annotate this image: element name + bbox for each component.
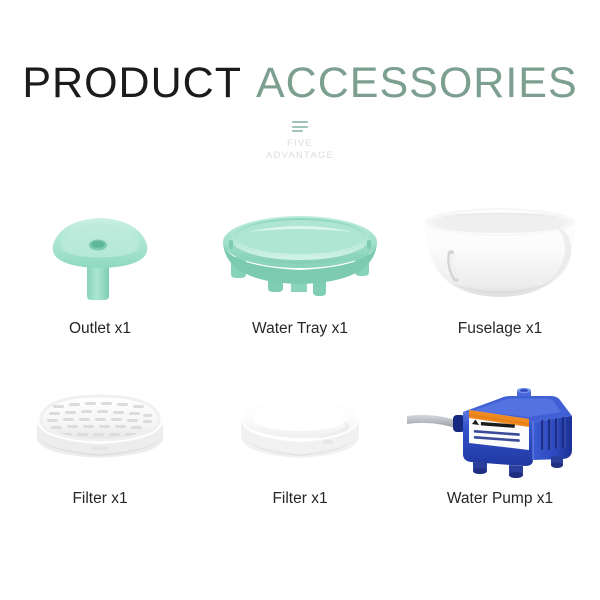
- product-row: Filter x1: [0, 388, 600, 508]
- outlet-part-icon: [5, 196, 195, 314]
- product-cell-water-tray[interactable]: Water Tray x1: [200, 196, 400, 338]
- filter-mesh-icon: [5, 388, 195, 484]
- product-cell-filter-pad[interactable]: Filter x1: [200, 388, 400, 508]
- page-title-primary: PRODUCT: [22, 59, 242, 107]
- page-subtitle: FIVE ADVANTAGE: [0, 138, 600, 162]
- page-header: PRODUCTACCESSORIES FIVE ADVANTAGE: [0, 62, 600, 162]
- product-caption: Outlet x1: [69, 320, 131, 338]
- equals-lines-icon: [292, 121, 308, 132]
- product-cell-fuselage[interactable]: Fuselage x1: [400, 196, 600, 338]
- water-tray-part-icon: [205, 196, 395, 314]
- product-caption: Fuselage x1: [458, 320, 542, 338]
- filter-pad-icon: [205, 388, 395, 484]
- product-row: Outlet x1: [0, 196, 600, 338]
- product-grid: Outlet x1: [0, 196, 600, 508]
- product-cell-outlet[interactable]: Outlet x1: [0, 196, 200, 338]
- product-caption: Filter x1: [272, 490, 327, 508]
- product-cell-water-pump[interactable]: Water Pump x1: [400, 388, 600, 508]
- product-caption: Water Pump x1: [447, 490, 553, 508]
- page-subtitle-line1: FIVE: [0, 138, 600, 150]
- product-accessories-page: PRODUCTACCESSORIES FIVE ADVANTAGE: [0, 0, 600, 600]
- fuselage-bowl-icon: [405, 196, 595, 314]
- page-subtitle-line2: ADVANTAGE: [0, 150, 600, 162]
- page-title: PRODUCTACCESSORIES: [0, 62, 600, 105]
- water-pump-icon: [405, 388, 595, 484]
- product-caption: Filter x1: [72, 490, 127, 508]
- product-cell-filter-mesh[interactable]: Filter x1: [0, 388, 200, 508]
- product-caption: Water Tray x1: [252, 320, 348, 338]
- page-title-secondary: ACCESSORIES: [256, 59, 578, 107]
